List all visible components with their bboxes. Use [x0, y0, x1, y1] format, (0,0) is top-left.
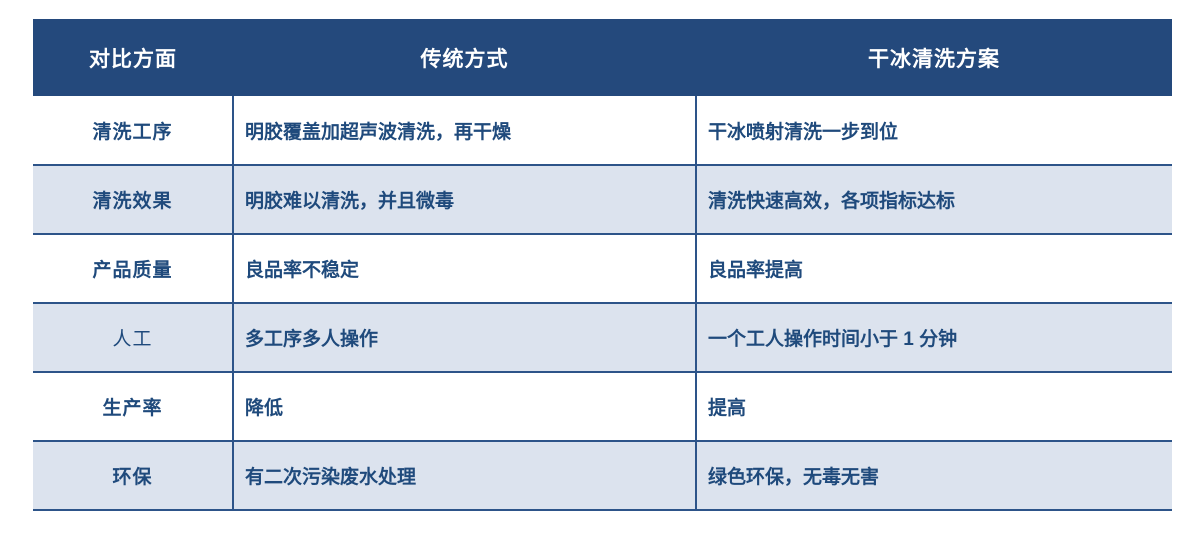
- table-body: 清洗工序 明胶覆盖加超声波清洗，再干燥 干冰喷射清洗一步到位 清洗效果 明胶难以…: [33, 96, 1172, 510]
- cell-aspect: 环保: [33, 441, 233, 510]
- column-header-aspect: 对比方面: [33, 19, 233, 96]
- table-row: 清洗工序 明胶覆盖加超声波清洗，再干燥 干冰喷射清洗一步到位: [33, 96, 1172, 165]
- table-row: 生产率 降低 提高: [33, 372, 1172, 441]
- table-row: 人工 多工序多人操作 一个工人操作时间小于 1 分钟: [33, 303, 1172, 372]
- cell-dryice: 一个工人操作时间小于 1 分钟: [696, 303, 1172, 372]
- cell-traditional: 良品率不稳定: [233, 234, 696, 303]
- cell-aspect: 清洗效果: [33, 165, 233, 234]
- cell-aspect: 产品质量: [33, 234, 233, 303]
- cell-traditional: 有二次污染废水处理: [233, 441, 696, 510]
- cell-dryice: 干冰喷射清洗一步到位: [696, 96, 1172, 165]
- cell-aspect: 清洗工序: [33, 96, 233, 165]
- cell-dryice: 清洗快速高效，各项指标达标: [696, 165, 1172, 234]
- cell-dryice: 良品率提高: [696, 234, 1172, 303]
- column-header-dryice: 干冰清洗方案: [696, 19, 1172, 96]
- cell-traditional: 多工序多人操作: [233, 303, 696, 372]
- cell-aspect: 人工: [33, 303, 233, 372]
- cell-aspect: 生产率: [33, 372, 233, 441]
- header-row: 对比方面 传统方式 干冰清洗方案: [33, 19, 1172, 96]
- table-row: 产品质量 良品率不稳定 良品率提高: [33, 234, 1172, 303]
- column-header-traditional: 传统方式: [233, 19, 696, 96]
- cell-dryice: 提高: [696, 372, 1172, 441]
- cell-traditional: 明胶覆盖加超声波清洗，再干燥: [233, 96, 696, 165]
- comparison-table: 对比方面 传统方式 干冰清洗方案 清洗工序 明胶覆盖加超声波清洗，再干燥 干冰喷…: [33, 19, 1172, 511]
- cell-traditional: 降低: [233, 372, 696, 441]
- cell-traditional: 明胶难以清洗，并且微毒: [233, 165, 696, 234]
- cell-dryice: 绿色环保，无毒无害: [696, 441, 1172, 510]
- table-row: 环保 有二次污染废水处理 绿色环保，无毒无害: [33, 441, 1172, 510]
- table-row: 清洗效果 明胶难以清洗，并且微毒 清洗快速高效，各项指标达标: [33, 165, 1172, 234]
- table-header: 对比方面 传统方式 干冰清洗方案: [33, 19, 1172, 96]
